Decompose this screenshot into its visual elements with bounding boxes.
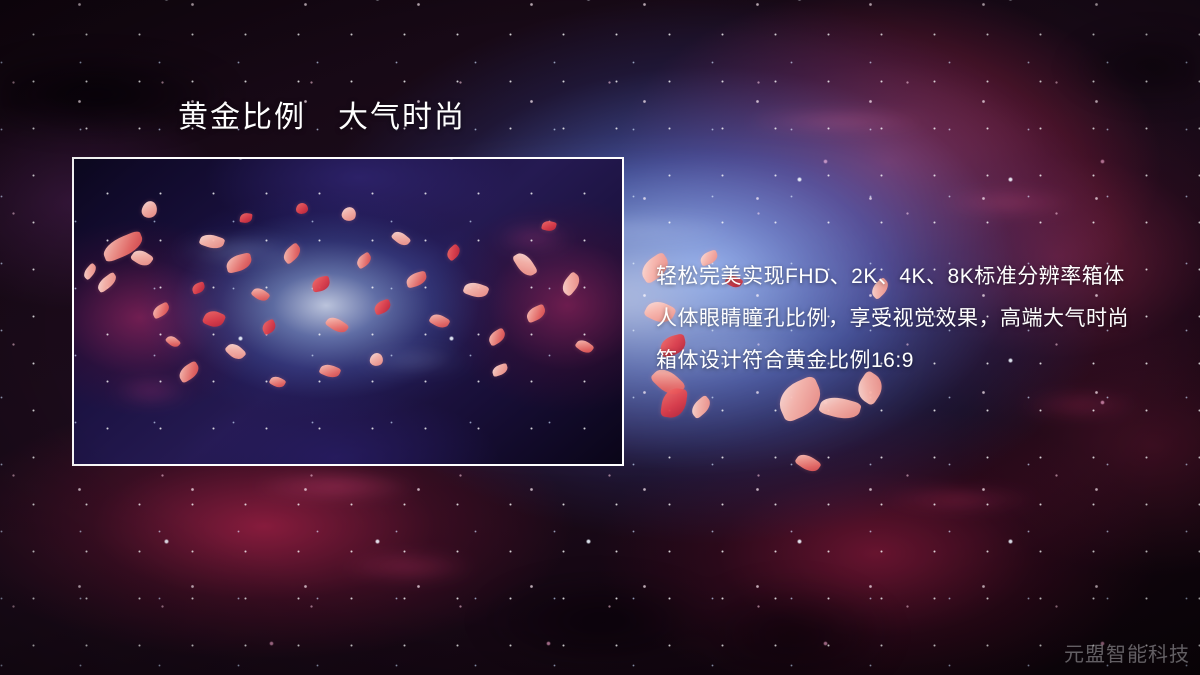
petal [296, 203, 308, 214]
framed-photo [72, 157, 624, 466]
body-copy: 轻松完美实现FHD、2K、4K、8K标准分辨率箱体 人体眼睛瞳孔比例，享受视觉效… [656, 256, 1176, 382]
body-line-2: 人体眼睛瞳孔比例，享受视觉效果，高端大气时尚 [656, 298, 1176, 340]
presentation-slide: 黄金比例 大气时尚 [0, 0, 1200, 675]
page-title: 黄金比例 大气时尚 [178, 101, 466, 136]
watermark: 元盟智能科技 [1064, 638, 1190, 667]
body-line-1: 轻松完美实现FHD、2K、4K、8K标准分辨率箱体 [656, 256, 1176, 298]
body-line-3: 箱体设计符合黄金比例16:9 [656, 340, 1176, 382]
